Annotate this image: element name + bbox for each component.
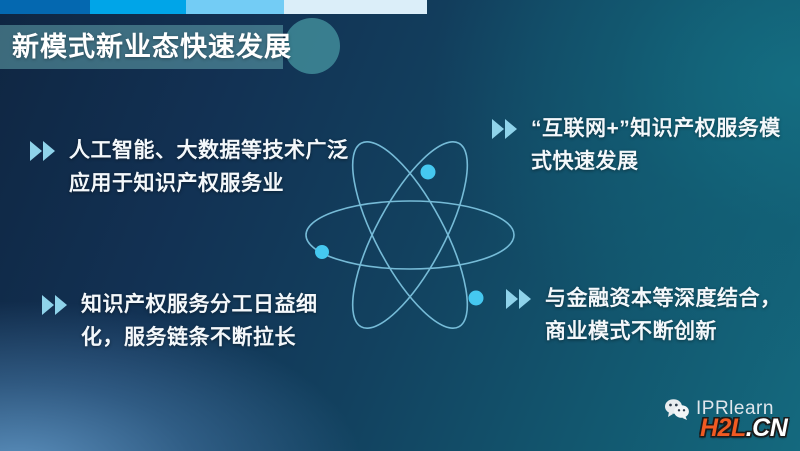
double-chevron-right-icon: [42, 294, 72, 316]
strip-segment-4: [284, 0, 427, 14]
site-watermark-suffix: .CN: [746, 414, 788, 442]
bullet-financial-capital: 与金融资本等深度结合，商业模式不断创新: [506, 282, 800, 348]
double-chevron-right-icon: [506, 288, 536, 310]
strip-segment-3: [186, 0, 284, 14]
bullet-label: 人工智能、大数据等技术广泛应用于知识产权服务业: [69, 134, 350, 200]
strip-segment-1: [0, 0, 90, 14]
site-watermark: H2L.CN: [700, 414, 787, 443]
site-watermark-main: H2L: [700, 414, 746, 442]
slide-canvas: 新模式新业态快速发展 人工智能、大数据等技术广泛应用于知识产权服务业 “互联网+…: [0, 0, 800, 451]
double-chevron-right-icon: [492, 118, 522, 140]
bullet-label: “互联网+”知识产权服务模式快速发展: [531, 112, 792, 178]
wechat-icon: [664, 398, 690, 420]
top-color-strip: [0, 0, 800, 14]
bullet-service-division: 知识产权服务分工日益细化，服务链条不断拉长: [42, 288, 352, 354]
strip-segment-rest: [427, 0, 800, 14]
strip-segment-2: [90, 0, 186, 14]
bullet-label: 知识产权服务分工日益细化，服务链条不断拉长: [81, 288, 352, 354]
bullet-internet-plus: “互联网+”知识产权服务模式快速发展: [492, 112, 792, 178]
double-chevron-right-icon: [30, 140, 60, 162]
page-title: 新模式新业态快速发展: [12, 25, 292, 69]
title-accent-circle: [284, 18, 340, 74]
bullet-label: 与金融资本等深度结合，商业模式不断创新: [545, 282, 800, 348]
bullet-ai-big-data: 人工智能、大数据等技术广泛应用于知识产权服务业: [30, 134, 350, 200]
